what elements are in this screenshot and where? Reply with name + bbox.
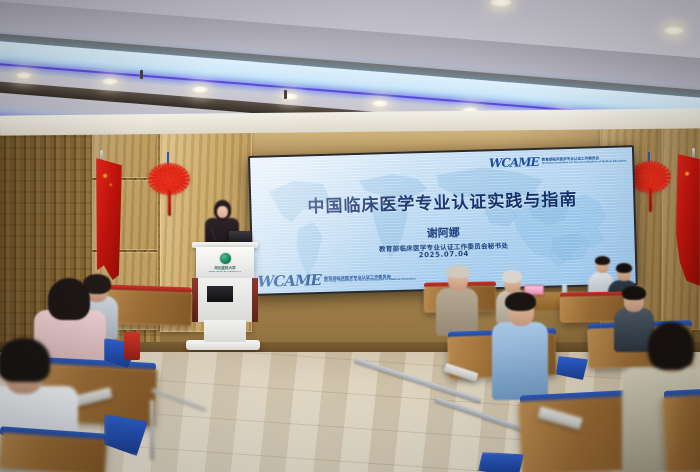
ceiling-downlight: [490, 0, 512, 7]
flag-star: ★: [109, 180, 113, 189]
podium-lower-column: [204, 320, 246, 342]
conference-hall-photo: ★ ★ ★: [0, 0, 700, 472]
ceiling-downlight: [102, 78, 118, 85]
speaker-face: [217, 206, 228, 218]
ornament-fan-left: [152, 166, 186, 192]
seat-back: [662, 395, 700, 472]
attendee-hair: [502, 270, 522, 283]
attendee-hair: [648, 322, 694, 370]
attendee-hair: [505, 292, 536, 311]
attendee-torso: [436, 288, 478, 336]
ornament-fan-right: [633, 164, 667, 190]
podium-equipment-bay: [207, 286, 233, 302]
screen-glare: [250, 147, 636, 294]
ceiling-sprinkler: [284, 90, 287, 99]
flag-cloth-left: ★ ★: [96, 158, 122, 280]
ornament-tassel-right: [649, 188, 652, 212]
flag-star: ★: [684, 170, 690, 179]
attendee-hair: [0, 338, 50, 382]
seat-back: [105, 290, 192, 327]
podium-institution-en: HEBEI MEDICAL UNIVERSITY: [196, 271, 254, 273]
flag-star: ★: [102, 172, 108, 181]
attendee-hair: [446, 265, 470, 278]
ceiling-downlight: [192, 86, 208, 93]
attendee-hair: [595, 256, 610, 265]
ceiling-downlight: [372, 100, 388, 107]
podium-front-panel: 河北医科大学 HEBEI MEDICAL UNIVERSITY: [196, 247, 254, 278]
attendee-torso: [492, 322, 548, 400]
seat-trim: [124, 332, 140, 360]
attendee-hair: [48, 278, 90, 320]
podium-side-right: [252, 278, 258, 322]
ornament-tassel-left: [168, 190, 171, 216]
podium-emblem-icon: [220, 253, 231, 264]
attendee-hair: [616, 263, 632, 273]
projection-screen: 中国临床医学专业认证实践与指南 谢阿娜 教育部临床医学专业认证工作委员会秘书处 …: [250, 147, 636, 294]
attendee-hair: [622, 286, 646, 300]
projection-screen-frame: 中国临床医学专业认证实践与指南 谢阿娜 教育部临床医学专业认证工作委员会秘书处 …: [248, 145, 638, 296]
seat-cushion: [478, 452, 524, 472]
seat-back: [0, 432, 107, 472]
ceiling-sprinkler: [140, 70, 143, 79]
ceiling-downlight: [664, 26, 684, 35]
ceiling-downlight: [16, 72, 32, 79]
seat-leg-rail: [150, 400, 154, 460]
